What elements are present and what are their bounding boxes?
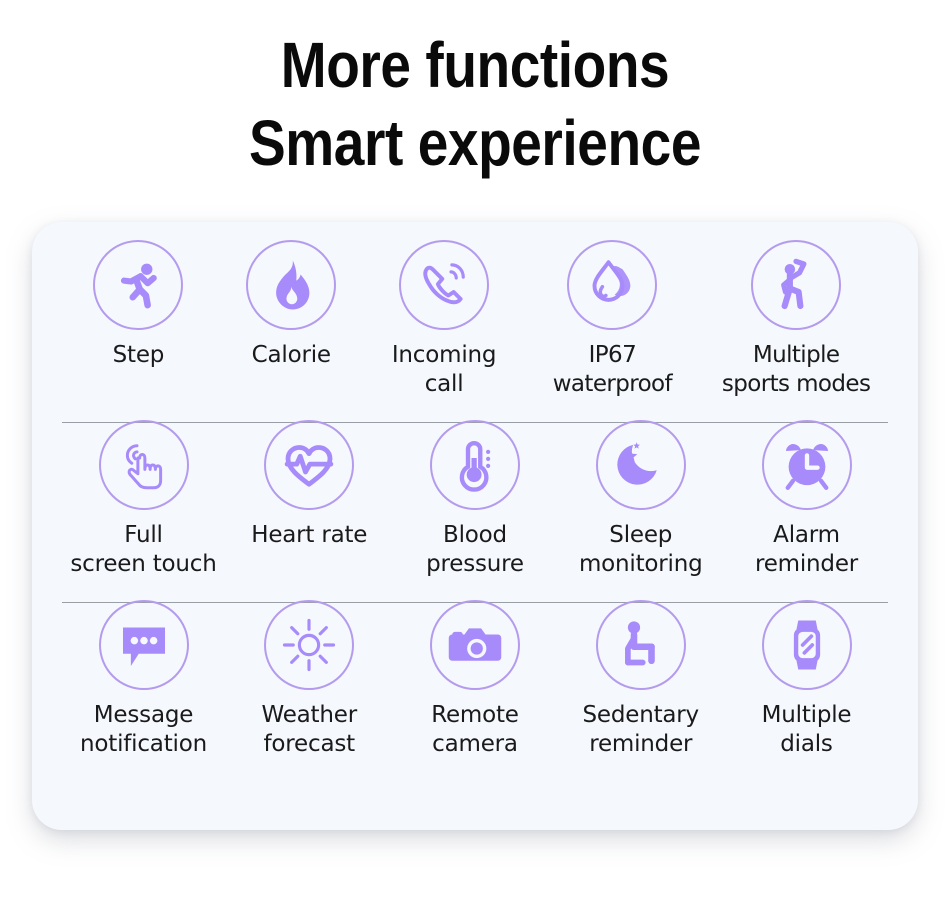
- feature-label: Full screen touch: [70, 521, 216, 579]
- feature-alarm-reminder[interactable]: Alarm reminder: [725, 420, 888, 579]
- feature-ip67-waterproof[interactable]: IP67 waterproof: [520, 240, 704, 399]
- feature-label: Multiple sports modes: [722, 341, 870, 399]
- feature-calorie[interactable]: Calorie: [215, 240, 368, 370]
- chat-bubble-icon: [99, 600, 189, 690]
- feature-label: Multiple dials: [762, 701, 852, 759]
- feature-label: Step: [113, 341, 165, 370]
- thermometer-icon: [430, 420, 520, 510]
- feature-remote-camera[interactable]: Remote camera: [394, 600, 557, 759]
- feature-label: Calorie: [252, 341, 331, 370]
- camera-icon: [430, 600, 520, 690]
- feature-label: Heart rate: [251, 521, 367, 550]
- feature-message-notification[interactable]: Message notification: [62, 600, 225, 759]
- feature-sedentary-reminder[interactable]: Sedentary reminder: [559, 600, 722, 759]
- flame-icon: [246, 240, 336, 330]
- feature-sleep-monitoring[interactable]: Sleep monitoring: [559, 420, 722, 579]
- heart-pulse-icon: [264, 420, 354, 510]
- feature-incoming-call[interactable]: Incoming call: [368, 240, 521, 399]
- smartwatch-icon: [762, 600, 852, 690]
- touch-hand-icon: [99, 420, 189, 510]
- sitting-person-icon: [596, 600, 686, 690]
- running-person-icon: [93, 240, 183, 330]
- feature-full-screen-touch[interactable]: Full screen touch: [62, 420, 225, 579]
- feature-blood-pressure[interactable]: Blood pressure: [394, 420, 557, 579]
- feature-label: IP67 waterproof: [553, 341, 672, 399]
- feature-label: Weather forecast: [262, 701, 357, 759]
- feature-label: Sleep monitoring: [579, 521, 703, 579]
- features-card: Step Calorie: [32, 222, 918, 830]
- feature-multiple-sports-modes[interactable]: Multiple sports modes: [704, 240, 888, 399]
- feature-row: Full screen touch Heart rate: [62, 420, 888, 598]
- water-drop-icon: [567, 240, 657, 330]
- features-grid: Step Calorie: [32, 222, 918, 830]
- feature-label: Incoming call: [392, 341, 496, 399]
- alarm-clock-icon: [762, 420, 852, 510]
- sun-icon: [264, 600, 354, 690]
- feature-label: Sedentary reminder: [583, 701, 699, 759]
- feature-label: Alarm reminder: [755, 521, 858, 579]
- feature-label: Remote camera: [431, 701, 519, 759]
- feature-weather-forecast[interactable]: Weather forecast: [228, 600, 391, 759]
- page-title: More functions Smart experience: [67, 26, 884, 182]
- page-title-line-2: Smart experience: [67, 104, 884, 182]
- feature-label: Blood pressure: [426, 521, 524, 579]
- feature-heart-rate[interactable]: Heart rate: [228, 420, 391, 550]
- feature-step[interactable]: Step: [62, 240, 215, 370]
- stretching-person-icon: [751, 240, 841, 330]
- promo-page: More functions Smart experience: [0, 0, 950, 906]
- moon-stars-icon: [596, 420, 686, 510]
- feature-row: Step Calorie: [62, 240, 888, 418]
- feature-multiple-dials[interactable]: Multiple dials: [725, 600, 888, 759]
- page-title-line-1: More functions: [67, 26, 884, 104]
- feature-label: Message notification: [80, 701, 207, 759]
- feature-row: Message notification: [62, 600, 888, 778]
- phone-ringing-icon: [399, 240, 489, 330]
